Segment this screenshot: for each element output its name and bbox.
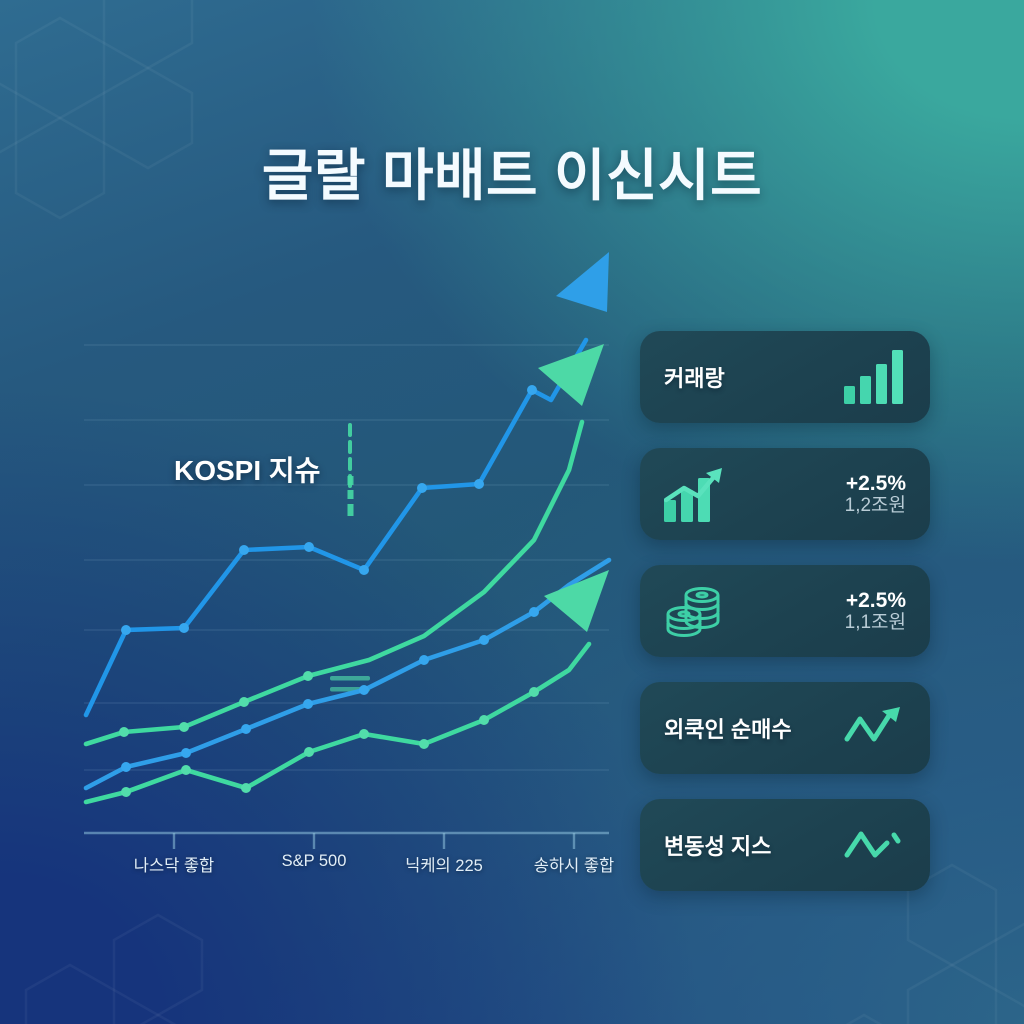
stat-card-subvalue: 1,2조원 <box>845 495 906 516</box>
chart-area: KOSPI 지슈 나스닥 좋합 S&P 500 닉케의 225 송하시 좋합 <box>64 240 624 900</box>
stat-card-percent: +2.5% <box>846 472 906 496</box>
x-axis-label-2: 닉케의 225 <box>405 852 483 876</box>
arrowhead-blue-upper <box>556 252 609 312</box>
stat-card-label: 커래랑 <box>664 361 725 393</box>
x-axis-label-0: 나스닥 좋합 <box>134 852 214 876</box>
line-chart-svg <box>64 240 624 900</box>
stat-card-values: +2.5% 1,2조원 <box>845 472 906 517</box>
x-axis-labels: 나스닥 좋합 S&P 500 닉케의 225 송하시 좋합 <box>64 852 624 886</box>
zigzag-line-icon <box>844 825 906 865</box>
stat-card-volume[interactable]: 커래랑 <box>640 331 930 423</box>
stat-card-percent: +2.5% <box>846 589 906 613</box>
page-title: 글랄 마배트 이신시트 <box>0 131 1024 212</box>
stat-card-values: +2.5% 1,1조원 <box>845 589 906 634</box>
stat-card-label: 외쿡인 순매수 <box>664 712 792 744</box>
stat-card-label: 변동성 지스 <box>664 829 771 861</box>
x-axis-label-1: S&P 500 <box>282 852 347 871</box>
stat-card-list: 커래랑 +2 <box>640 331 930 891</box>
stat-card-trending[interactable]: +2.5% 1,2조원 <box>640 448 930 540</box>
stat-card-foreign-net-buy[interactable]: 외쿡인 순매수 <box>640 682 930 774</box>
stat-card-subvalue: 1,1조원 <box>845 612 906 633</box>
line-arrow-up-icon <box>844 705 906 751</box>
kospi-annotation-label: KOSPI 지슈 <box>174 449 434 489</box>
x-axis-label-3: 송하시 좋합 <box>534 852 614 876</box>
infographic-root: 글랄 마배트 이신시트 <box>0 0 1024 1024</box>
x-axis-ticks <box>174 833 574 849</box>
trending-up-bars-icon <box>664 466 726 522</box>
coins-stack-icon <box>664 583 726 639</box>
stat-card-volatility[interactable]: 변동성 지스 <box>640 799 930 891</box>
stat-card-coins[interactable]: +2.5% 1,1조원 <box>640 565 930 657</box>
bar-chart-icon <box>844 350 906 404</box>
